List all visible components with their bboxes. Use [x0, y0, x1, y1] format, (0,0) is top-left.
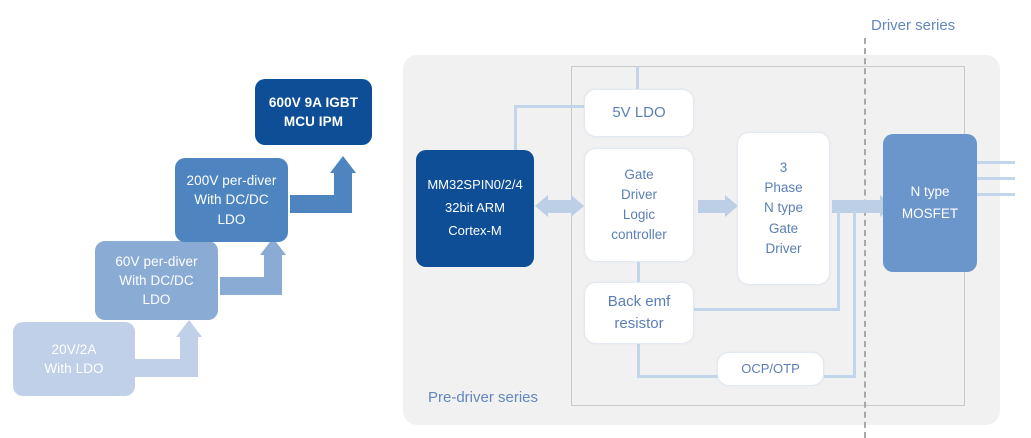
ladder-step-200v[interactable]: 200V per-diver With DC/DC LDO — [175, 158, 288, 242]
ladder-arrow-1-head — [176, 320, 202, 337]
connector-ocp-to-rail-horizontal — [824, 375, 856, 378]
connector-ldo-to-mcu-vertical — [514, 105, 517, 150]
ladder-arrow-3-shaft-vertical — [334, 172, 352, 213]
driver-series-label: Driver series — [871, 17, 955, 34]
ladder-arrow-3-head — [330, 156, 356, 173]
block-back-emf-resistor[interactable]: Back emf resistor — [584, 282, 694, 344]
arrow-gatelogic-to-phasedriver-shaft — [698, 200, 725, 213]
connector-gatelogic-to-backemf — [637, 262, 640, 282]
block-mcu[interactable]: MM32SPIN0/2/4 32bit ARM Cortex-M — [416, 150, 534, 267]
block-3-phase-n-type-gate-driver[interactable]: 3 Phase N type Gate Driver — [737, 132, 830, 285]
ladder-step-20v[interactable]: 20V/2A With LDO — [13, 322, 135, 396]
connector-backemf-feedback-horizontal — [694, 308, 840, 311]
driver-series-divider — [864, 38, 866, 438]
connector-ocp-to-rail-vertical — [853, 211, 856, 378]
connector-backemf-to-ocp-vertical — [637, 344, 640, 378]
pre-driver-series-label: Pre-driver series — [428, 389, 538, 406]
ladder-arrow-1-shaft-vertical — [180, 336, 198, 377]
connector-backemf-feedback-vertical — [837, 211, 840, 310]
bidirectional-arrow-shaft — [548, 200, 572, 213]
bidirectional-arrow-head-left — [535, 195, 548, 217]
block-5v-ldo[interactable]: 5V LDO — [584, 89, 694, 137]
connector-ldo-to-mcu-horizontal — [514, 105, 586, 108]
ladder-arrow-2-shaft-vertical — [264, 254, 282, 295]
mosfet-output-lead-w — [977, 193, 1015, 196]
block-n-type-mosfet[interactable]: N type MOSFET — [883, 134, 977, 272]
mosfet-output-lead-v — [977, 177, 1015, 180]
connector-ldo-to-top-rail — [636, 66, 639, 90]
block-ocp-otp[interactable]: OCP/OTP — [717, 352, 824, 386]
ladder-step-60v[interactable]: 60V per-diver With DC/DC LDO — [95, 241, 218, 320]
block-gate-driver-logic-controller[interactable]: Gate Driver Logic controller — [584, 148, 694, 262]
ladder-step-600v[interactable]: 600V 9A IGBT MCU IPM — [255, 79, 372, 145]
bidirectional-arrow-head-right — [571, 195, 584, 217]
block-diagram-canvas: 20V/2A With LDO 60V per-diver With DC/DC… — [0, 0, 1031, 438]
mosfet-output-lead-u — [977, 161, 1015, 164]
